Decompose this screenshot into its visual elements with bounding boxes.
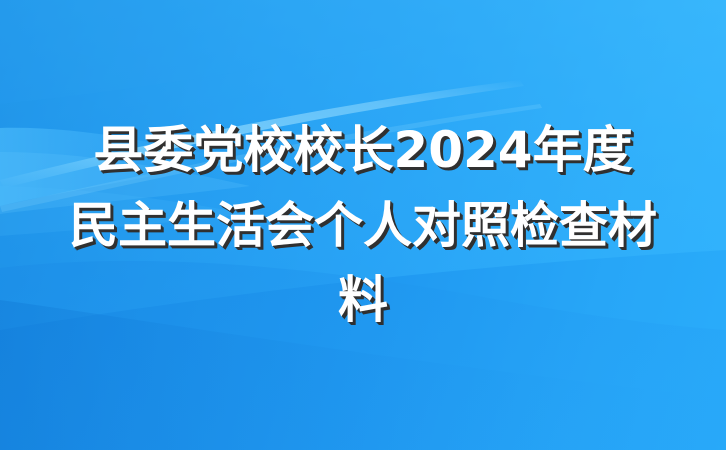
title-banner: 县委党校校长2024年度 民主生活会个人对照检查材 料 <box>0 0 726 450</box>
title-line-1: 县委党校校长2024年度 <box>93 113 632 188</box>
title-line-3: 料 <box>338 263 388 338</box>
banner-title: 县委党校校长2024年度 民主生活会个人对照检查材 料 <box>0 0 726 450</box>
title-line-2: 民主生活会个人对照检查材 <box>69 188 657 263</box>
